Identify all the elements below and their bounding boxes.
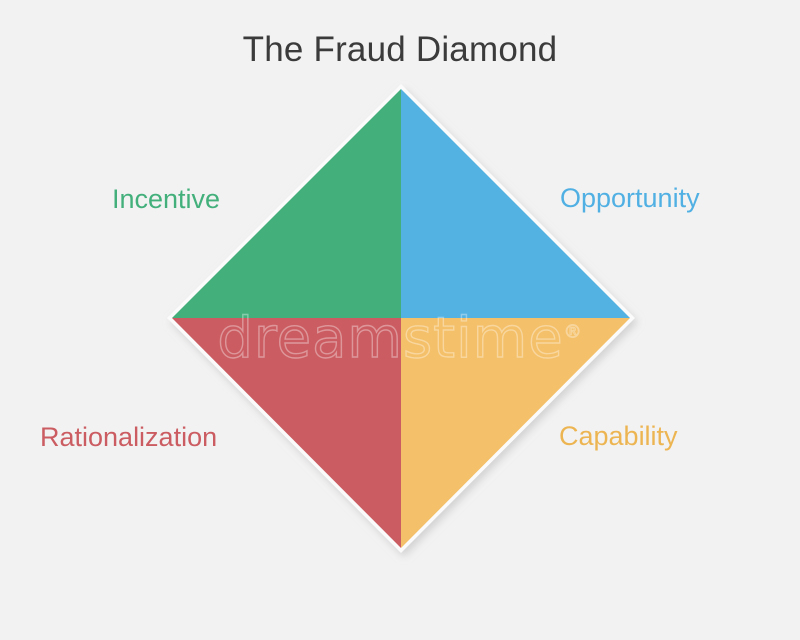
label-incentive: Incentive bbox=[112, 186, 220, 213]
fraud-diamond-figure bbox=[0, 0, 800, 640]
diagram-canvas: The Fraud Diamond dreamstime® Incentive … bbox=[0, 0, 800, 640]
label-rationalization: Rationalization bbox=[40, 424, 217, 451]
label-capability: Capability bbox=[559, 423, 678, 450]
diamond-quadrants bbox=[172, 89, 630, 548]
label-opportunity: Opportunity bbox=[560, 185, 700, 212]
